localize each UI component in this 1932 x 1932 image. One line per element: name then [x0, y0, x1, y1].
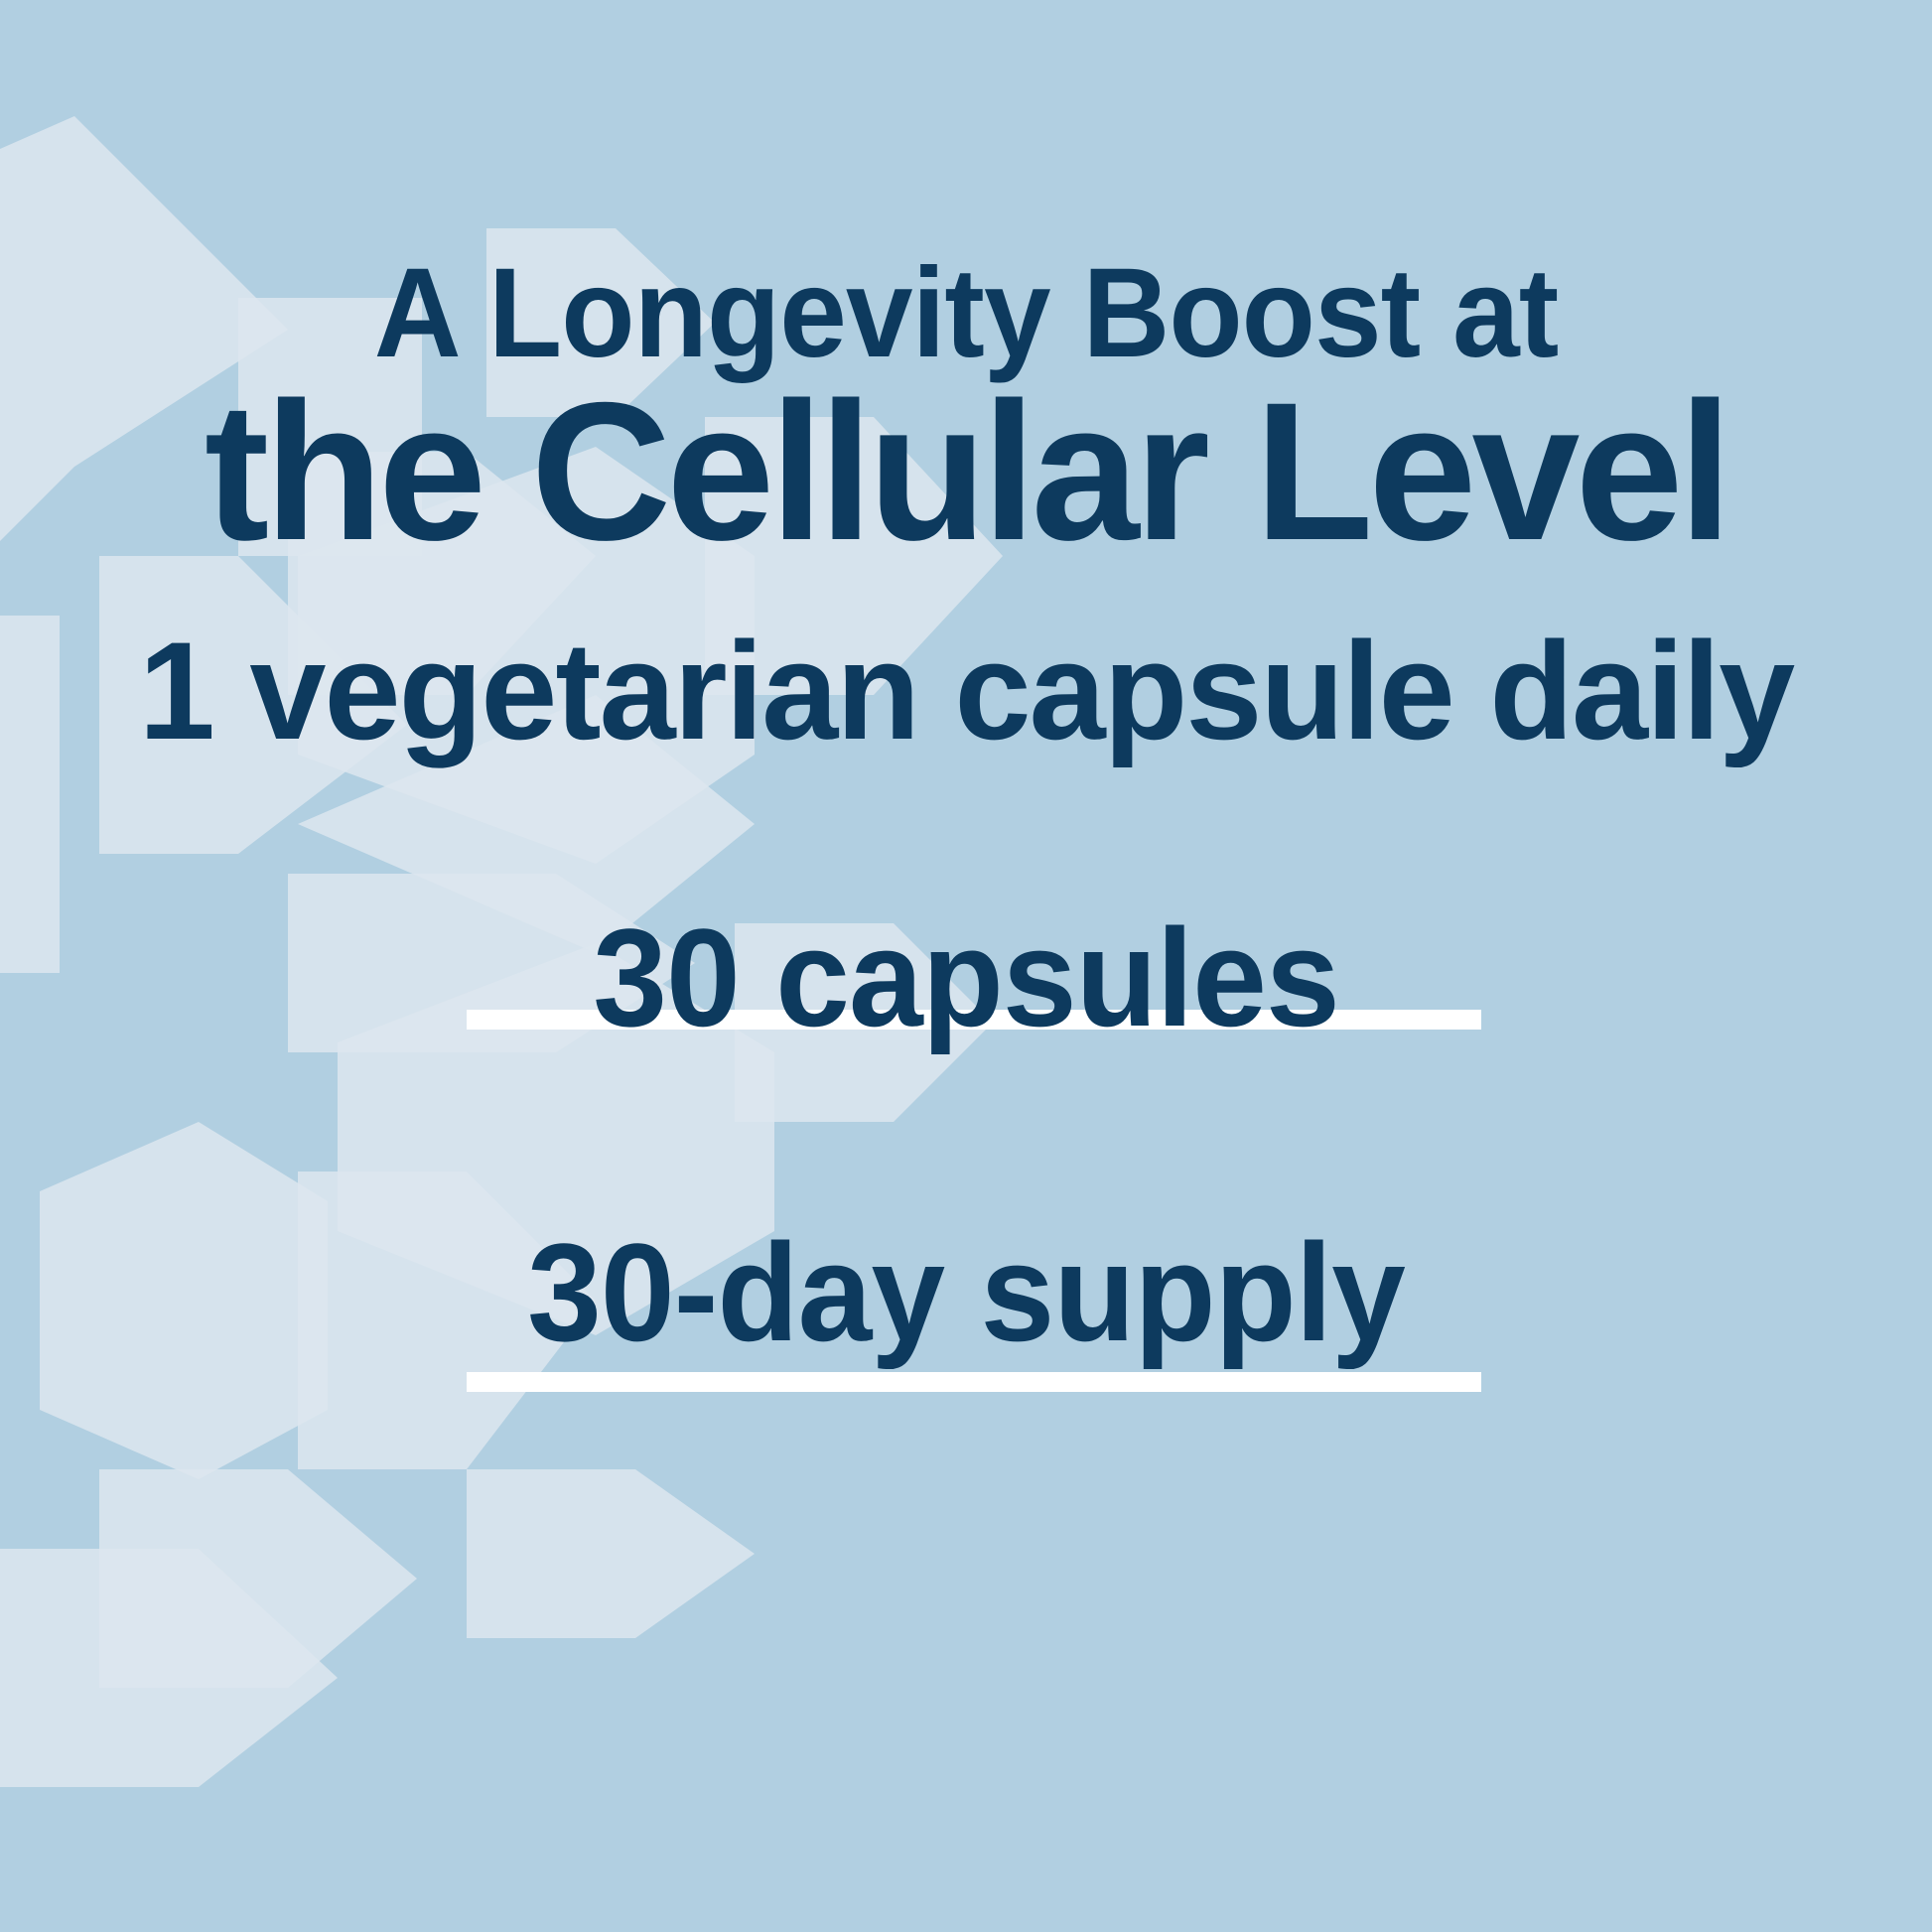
product-claim-card: A Longevity Boost at the Cellular Level …: [0, 0, 1932, 1932]
card-content: A Longevity Boost at the Cellular Level …: [0, 0, 1932, 1932]
supply-duration-text: 30-day supply: [39, 1223, 1893, 1362]
capsule-count-text: 30 capsules: [39, 908, 1893, 1047]
page-title: the Cellular Level: [10, 373, 1923, 570]
eyebrow-text: A Longevity Boost at: [49, 250, 1884, 377]
divider-bottom: [467, 1372, 1481, 1392]
dosage-text: 1 vegetarian capsule daily: [10, 621, 1923, 760]
